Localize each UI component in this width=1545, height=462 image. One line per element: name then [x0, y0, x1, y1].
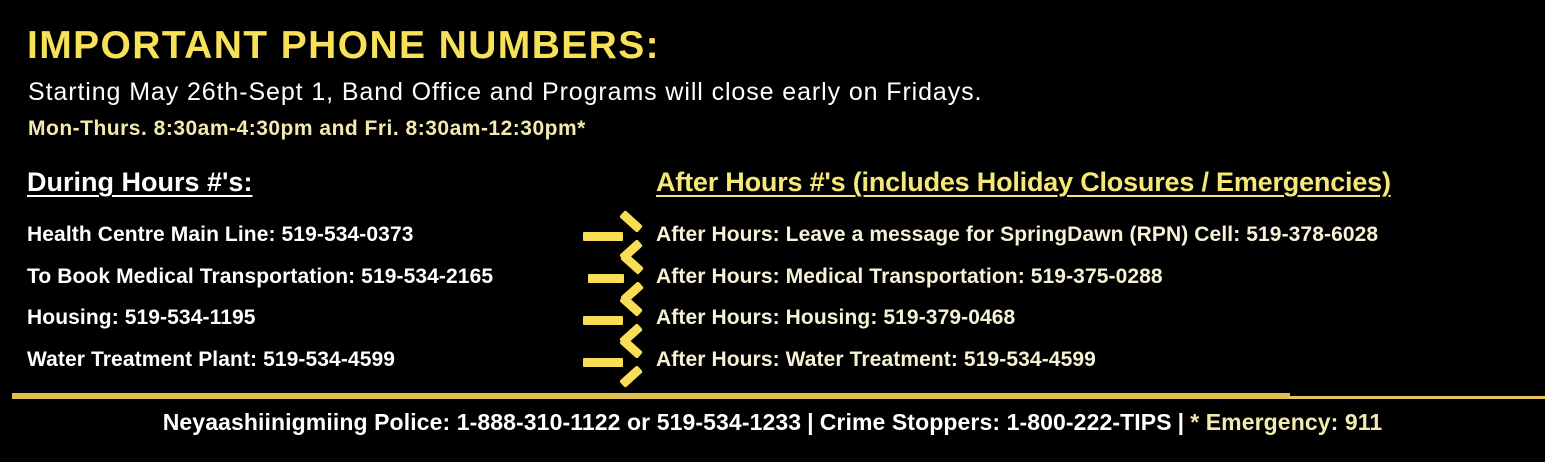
after-hours-heading: After Hours #'s (includes Holiday Closur…: [656, 167, 1391, 198]
emergency-number: * Emergency: 911: [1190, 409, 1382, 435]
arrow-head: [616, 349, 638, 375]
after-hours-row-3: After Hours: Housing: 519-379-0468: [656, 306, 1015, 330]
arrow-right-icon: [583, 305, 641, 335]
arrow-head: [616, 223, 638, 249]
during-hours-heading: During Hours #'s:: [27, 167, 252, 198]
schedule-notice: Starting May 26th-Sept 1, Band Office an…: [28, 78, 982, 107]
arrow-head: [616, 307, 638, 333]
crime-stoppers-number: Crime Stoppers: 1-800-222-TIPS: [820, 409, 1172, 435]
arrow-right-icon: [583, 347, 641, 377]
divider-line-thin: [1288, 396, 1545, 399]
arrow-right-icon: [588, 263, 642, 293]
during-hours-row-1: Health Centre Main Line: 519-534-0373: [27, 223, 414, 247]
footer-separator-1: |: [801, 409, 820, 435]
footer-separator-2: |: [1172, 409, 1191, 435]
arrow-right-icon: [583, 221, 641, 251]
during-hours-row-3: Housing: 519-534-1195: [27, 306, 256, 330]
arrow-head: [617, 265, 639, 291]
after-hours-row-1: After Hours: Leave a message for SpringD…: [656, 223, 1378, 247]
police-number: Neyaashiinigmiing Police: 1-888-310-1122…: [163, 409, 801, 435]
phone-numbers-poster: IMPORTANT PHONE NUMBERS: Starting May 26…: [0, 0, 1545, 462]
after-hours-row-2: After Hours: Medical Transportation: 519…: [656, 265, 1163, 289]
divider-line-thick: [12, 393, 1290, 399]
during-hours-row-4: Water Treatment Plant: 519-534-4599: [27, 348, 395, 372]
footer-bar: Neyaashiinigmiing Police: 1-888-310-1122…: [0, 409, 1545, 436]
after-hours-row-4: After Hours: Water Treatment: 519-534-45…: [656, 348, 1096, 372]
page-title: IMPORTANT PHONE NUMBERS:: [27, 26, 660, 67]
office-hours: Mon-Thurs. 8:30am-4:30pm and Fri. 8:30am…: [28, 117, 586, 141]
during-hours-row-2: To Book Medical Transportation: 519-534-…: [27, 265, 493, 289]
